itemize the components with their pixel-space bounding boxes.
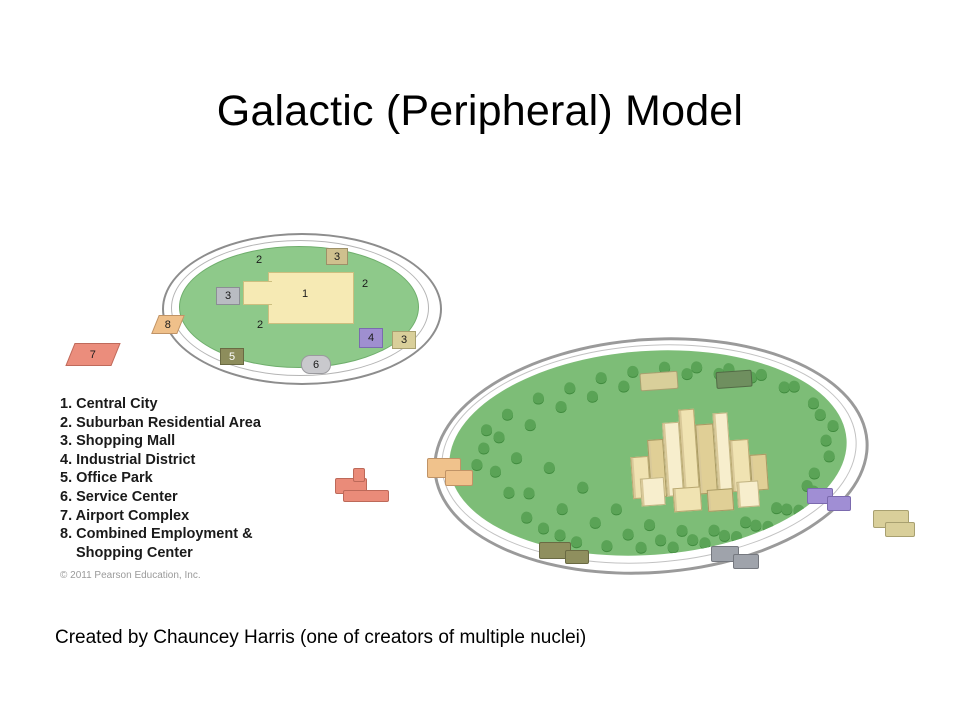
marker-5: 5 — [220, 348, 244, 365]
schematic-diagram: 2 3 2 3 1 2 8 5 6 4 3 7 — [140, 215, 460, 395]
marker-2-top: 2 — [252, 253, 266, 267]
page-title: Galactic (Peripheral) Model — [0, 87, 960, 136]
legend-item-1: 1. Central City — [60, 395, 320, 414]
legend-item-2: 2. Suburban Residential Area — [60, 414, 320, 433]
legend-item-3: 3. Shopping Mall — [60, 432, 320, 451]
marker-3-left: 3 — [216, 287, 240, 305]
legend-num-6: 6. — [60, 489, 72, 505]
legend-label-1: Central City — [76, 396, 157, 412]
legend-num-8: 8. — [60, 526, 72, 542]
legend-label-5: Office Park — [76, 470, 153, 486]
legend-item-8-continued: Shopping Center — [60, 544, 320, 563]
legend-item-8: 8. Combined Employment & — [60, 525, 320, 544]
marker-1-center: 1 — [298, 287, 312, 301]
legend-num-7: 7. — [60, 508, 72, 524]
marker-3-right: 3 — [392, 331, 416, 349]
legend-label-8: Combined Employment & — [76, 526, 252, 542]
legend-label-7: Airport Complex — [76, 508, 190, 524]
legend-item-6: 6. Service Center — [60, 488, 320, 507]
slide: Galactic (Peripheral) Model 2 3 2 3 1 2 … — [0, 0, 960, 720]
galactic-model-figure: 2 3 2 3 1 2 8 5 6 4 3 7 1. Central City … — [30, 195, 930, 615]
legend-num-4: 4. — [60, 452, 72, 468]
satellite-mall-north — [639, 371, 678, 392]
legend-label-4: Industrial District — [76, 452, 195, 468]
satellite-mall-northeast — [716, 370, 753, 389]
marker-2-bottom: 2 — [253, 318, 267, 332]
legend-num-3: 3. — [60, 433, 72, 449]
legend-label-3: Shopping Mall — [76, 433, 175, 449]
legend-label-6: Service Center — [76, 489, 178, 505]
marker-2-right: 2 — [358, 277, 372, 291]
legend: 1. Central City 2. Suburban Residential … — [60, 395, 320, 562]
legend-num-2: 2. — [60, 415, 72, 431]
marker-7-text: 7 — [90, 349, 96, 361]
marker-6: 6 — [301, 355, 331, 374]
marker-7: 7 — [65, 343, 120, 366]
downtown-cluster — [621, 397, 779, 522]
legend-label-2: Suburban Residential Area — [76, 415, 261, 431]
legend-item-4: 4. Industrial District — [60, 451, 320, 470]
slide-caption: Created by Chauncey Harris (one of creat… — [55, 627, 586, 649]
legend-item-7: 7. Airport Complex — [60, 507, 320, 526]
three-d-illustration — [415, 310, 930, 600]
legend-num-1: 1. — [60, 396, 72, 412]
legend-item-5: 5. Office Park — [60, 469, 320, 488]
marker-8-text: 8 — [165, 319, 171, 331]
legend-num-5: 5. — [60, 470, 72, 486]
marker-4: 4 — [359, 328, 383, 348]
marker-3-topright: 3 — [326, 248, 348, 265]
publisher-credit: © 2011 Pearson Education, Inc. — [60, 570, 201, 581]
